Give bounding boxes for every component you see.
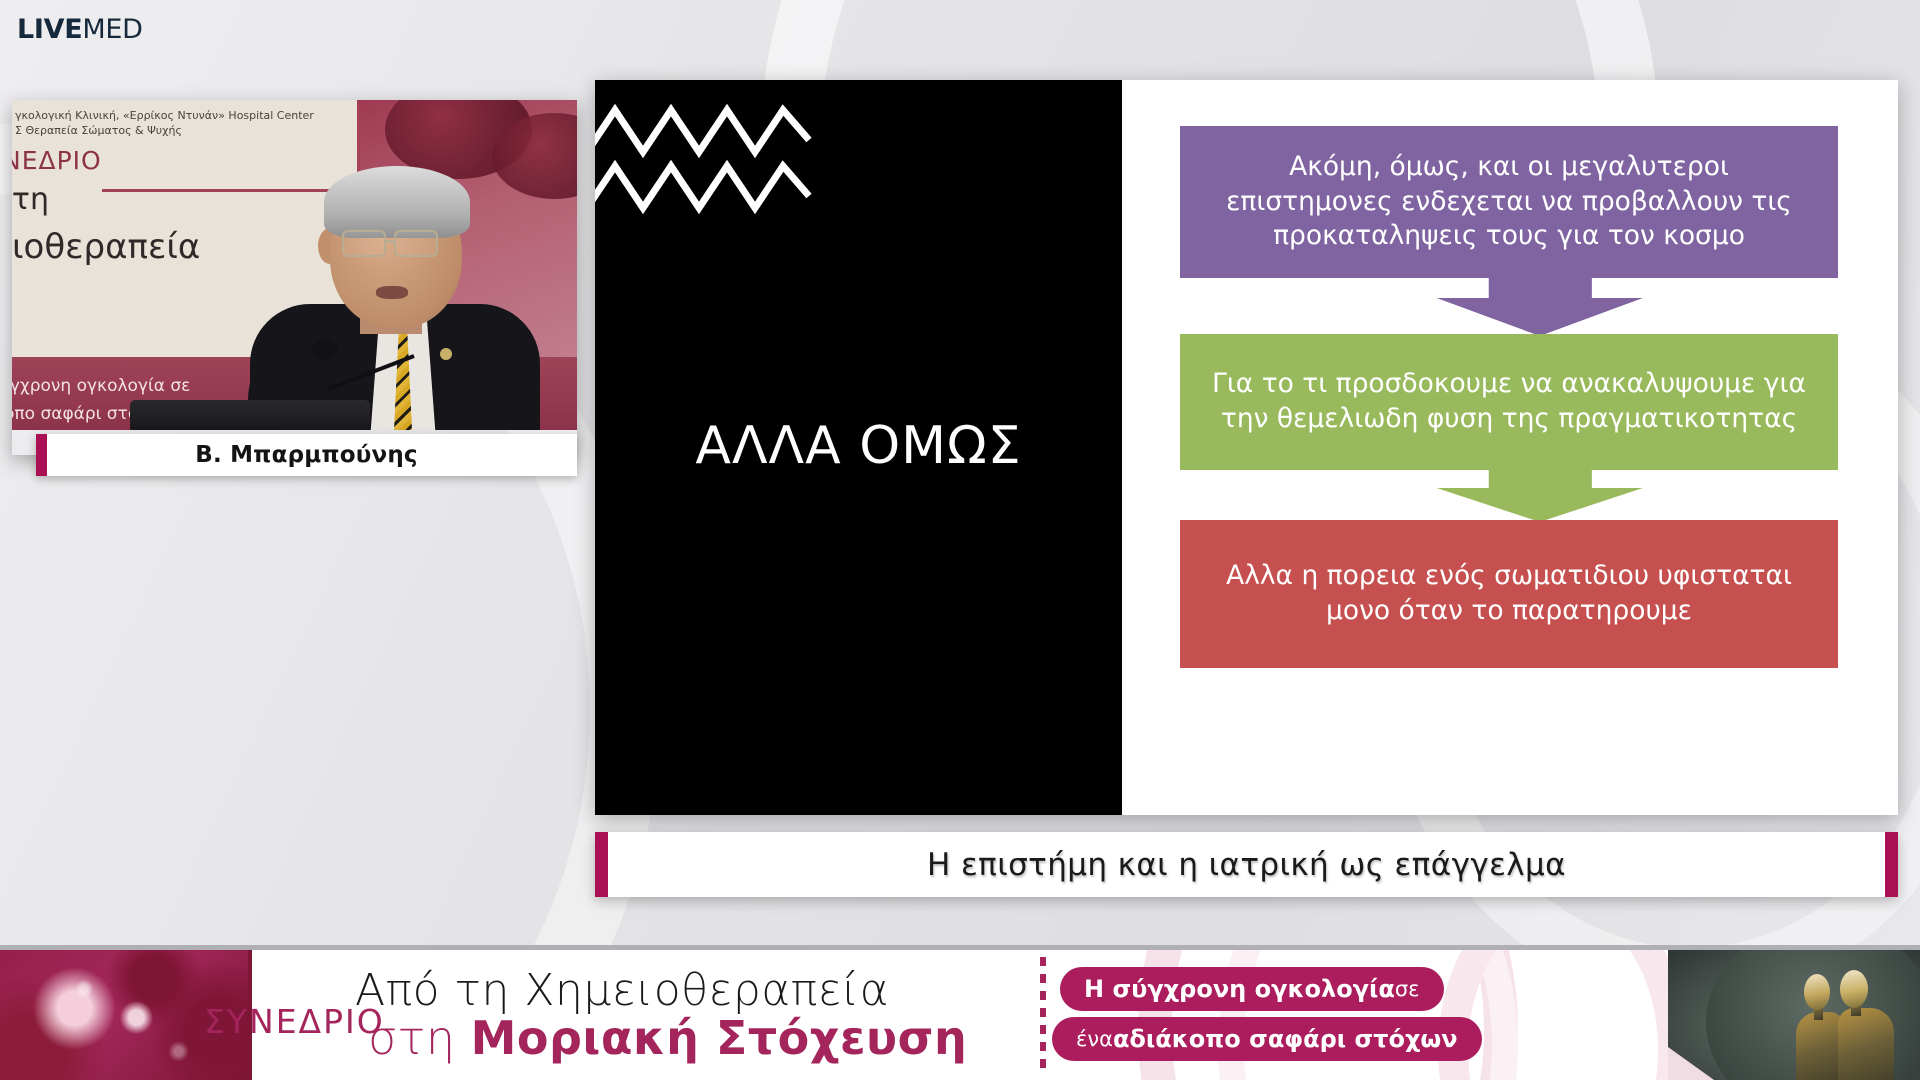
flow-box-green-text: Για το τι προσδοκουμε να ανακαλυψουμε γι… xyxy=(1206,367,1812,437)
backdrop-text-line1: γκολογική Κλινική, «Ερρίκος Ντυνάν» Hosp… xyxy=(15,109,314,122)
speaker-video-card[interactable]: γκολογική Κλινική, «Ερρίκος Ντυνάν» Hosp… xyxy=(12,100,577,455)
arrow-down-green-icon xyxy=(1122,468,1898,524)
flow-box-green: Για το τι προσδοκουμε να ανακαλυψουμε γι… xyxy=(1180,334,1838,470)
sculpture-figure-right-head xyxy=(1840,970,1868,1008)
logo-bold-part: LIVE xyxy=(17,14,82,45)
logo-light-part: MED xyxy=(82,14,142,45)
backdrop-text-line2: Σ Θεραπεία Σώματος & Ψυχής xyxy=(15,124,182,137)
flow-box-purple: Ακόμη, όμως, και οι μεγαλυτεροι επιστημο… xyxy=(1180,126,1838,278)
banner-pill-2-light: ένα xyxy=(1076,1027,1113,1051)
banner-title-line2: στη Μοριακή Στόχευση xyxy=(368,1011,967,1065)
flow-box-red: Αλλα η πορεια ενός σωματιδιου υφισταται … xyxy=(1180,520,1838,668)
banner-title-line1: Από τη Χημειοθεραπεία xyxy=(355,965,889,1016)
speaker-mouth xyxy=(376,286,408,299)
footer-accent-right xyxy=(1885,832,1898,897)
zigzag-decoration-icon xyxy=(595,100,837,230)
laptop xyxy=(130,400,370,430)
banner-dashed-divider xyxy=(1040,957,1046,1073)
banner-pill-2: ένα αδιάκοπο σαφάρι στόχων xyxy=(1052,1017,1482,1061)
slide-left-black-panel: ΑΛΛΑ ΟΜΩΣ xyxy=(595,80,1122,815)
banner-title-line2-thin: στη xyxy=(368,1011,471,1065)
top-bar: LIVEMED xyxy=(0,0,1920,62)
livemed-logo[interactable]: LIVEMED xyxy=(17,16,143,43)
slide-footer-title: Η επιστήμη και η ιατρική ως επάγγελμα xyxy=(927,847,1566,883)
flow-box-red-text: Αλλα η πορεια ενός σωματιδιου υφισταται … xyxy=(1206,559,1812,629)
banner-sculpture-image xyxy=(1668,950,1920,1080)
speaker-hair xyxy=(324,166,470,238)
speaker-glasses-left-lens xyxy=(342,230,386,257)
sculpture-figure-right-body xyxy=(1838,1008,1894,1080)
speaker-glasses-bridge xyxy=(386,240,396,243)
banner-arc-decoration xyxy=(1438,950,1668,1080)
slide-left-title: ΑΛΛΑ ΟΜΩΣ xyxy=(595,416,1122,476)
banner-pill-1-light: σε xyxy=(1395,977,1420,1001)
slide-footer-title-strip: Η επιστήμη και η ιατρική ως επάγγελμα xyxy=(595,832,1898,897)
speaker-name-bar: Β. Μπαρμπούνης xyxy=(36,434,577,476)
slide-right-flow-panel: Ακόμη, όμως, και οι μεγαλυτεροι επιστημο… xyxy=(1122,80,1898,815)
banner-pill-2-bold: αδιάκοπο σαφάρι στόχων xyxy=(1113,1025,1458,1053)
name-accent-bar xyxy=(36,434,47,476)
backdrop-text-line3: ΝΕΔΡΙΟ xyxy=(12,146,102,175)
banner-title-line2-bold: Μοριακή Στόχευση xyxy=(471,1011,968,1065)
sculpture-figure-left-head xyxy=(1804,974,1830,1010)
banner-pill-1: Η σύγχρονη ογκολογία σε xyxy=(1060,967,1444,1011)
backdrop-text-line8: ύγχρονη ογκολογία σε xyxy=(12,376,190,396)
speaker-video-frame[interactable]: γκολογική Κλινική, «Ερρίκος Ντυνάν» Hosp… xyxy=(12,100,577,430)
speaker-lapel-pin xyxy=(440,348,452,360)
banner-pill-1-bold: Η σύγχρονη ογκολογία xyxy=(1084,975,1395,1003)
microphone-icon xyxy=(312,340,338,360)
backdrop-text-line5: μειοθεραπεία xyxy=(12,227,200,267)
speaker-glasses-right-lens xyxy=(394,230,438,257)
backdrop-horizontal-rule xyxy=(102,189,356,192)
backdrop-text-line4: ό τη xyxy=(12,182,49,217)
flow-box-purple-text: Ακόμη, όμως, και οι μεγαλυτεροι επιστημο… xyxy=(1206,150,1812,255)
conference-banner: ΣΥΝΕΔΡΙΟ Από τη Χημειοθεραπεία στη Μορια… xyxy=(0,945,1920,1080)
presentation-slide[interactable]: ΑΛΛΑ ΟΜΩΣ Ακόμη, όμως, και οι μεγαλυτερο… xyxy=(595,80,1898,815)
sculpture-figure-left-body xyxy=(1796,1012,1844,1080)
arrow-down-purple-icon xyxy=(1122,276,1898,338)
speaker-name-label: Β. Μπαρμπούνης xyxy=(195,442,418,468)
footer-accent-left xyxy=(595,832,608,897)
